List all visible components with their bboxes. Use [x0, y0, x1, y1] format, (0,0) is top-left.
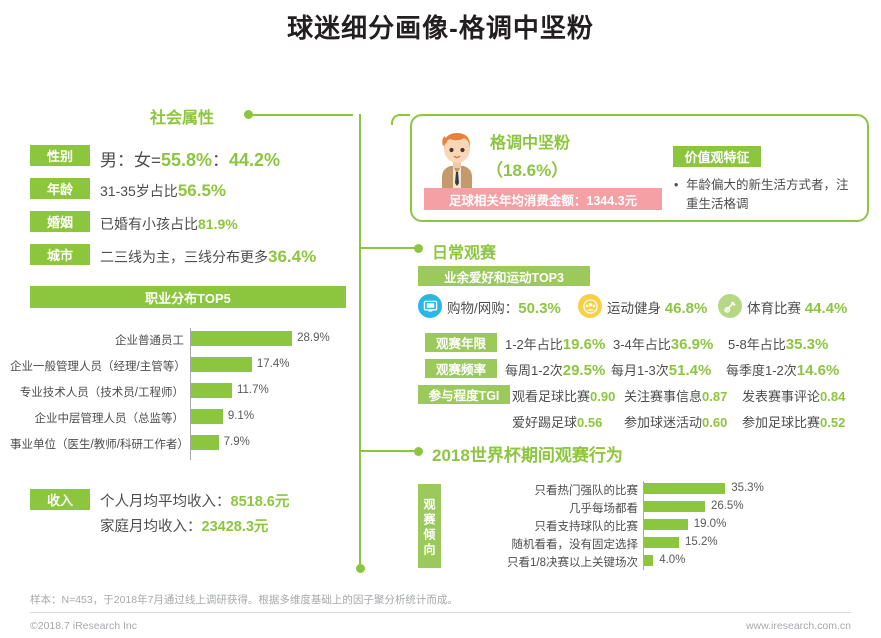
view-stat-value: 0.87 [702, 389, 727, 404]
footer-divider [30, 612, 851, 613]
occupation-bar-value: 17.4% [257, 358, 290, 370]
stat-gender-pre: 男：女= [100, 151, 161, 170]
view-stat-label: 每季度1-2次 [726, 363, 797, 378]
people-icon [578, 294, 602, 318]
view-stat-label: 5-8年占比 [728, 337, 786, 352]
occupation-bar [191, 357, 252, 372]
view-stat-label: 关注赛事信息 [624, 389, 702, 404]
view-stat-label: 参加足球比赛 [742, 415, 820, 430]
income-family-label: 家庭月均收入： [100, 519, 202, 535]
hobby-label: 运动健身 [607, 301, 665, 316]
chip-view-years: 观赛年限 [425, 333, 497, 352]
chip-view-freq: 观赛频率 [425, 359, 497, 378]
persona-value-bullet: •年龄偏大的新生活方式者，注重生活格调 [686, 176, 856, 215]
worldcup-bar [644, 537, 679, 548]
income-personal-value: 8518.6元 [231, 494, 290, 510]
chip-age: 年龄 [30, 178, 90, 199]
hobby-label: 体育比赛 [747, 301, 805, 316]
chip-city: 城市 [30, 244, 90, 265]
occupation-bar [191, 409, 223, 424]
worldcup-bar [644, 519, 688, 530]
hobby-text: 运动健身 46.8% [607, 297, 707, 317]
occupation-bar-value: 28.9% [297, 332, 330, 344]
worldcup-bar-value: 15.2% [685, 536, 718, 548]
chip-view-tendency: 观赛倾向 [418, 484, 441, 568]
view-stat-value: 14.6% [797, 362, 840, 379]
view-stat-label: 3-4年占比 [613, 337, 671, 352]
connector-branch-daily [361, 247, 417, 249]
avatar [434, 128, 480, 194]
section-head-daily: 日常观赛 [432, 239, 496, 263]
chip-engagement-tgi: 参与程度TGI [418, 385, 510, 404]
monitor-icon [418, 294, 442, 318]
occupation-bar-label: 专业技术人员（技术员/工程师） [10, 384, 184, 400]
chip-value-feature: 价值观特征 [673, 146, 761, 167]
view-stat-label: 参加球迷活动 [624, 415, 702, 430]
view-stat-cell: 参加球迷活动0.60 [624, 412, 727, 431]
worldcup-bar-label: 只看热门强队的比赛 [470, 482, 638, 498]
occupation-bar [191, 435, 219, 450]
stat-gender: 男：女=55.8%：44.2% [100, 146, 280, 171]
stat-city: 二三线为主，三线分布更多36.4% [100, 247, 316, 267]
view-stat-value: 29.5% [563, 362, 606, 379]
connector-dot-daily [414, 244, 423, 253]
income-family: 家庭月均收入：23428.3元 [100, 515, 268, 536]
connector-trunk [359, 114, 361, 566]
view-stat-label: 观看足球比赛 [512, 389, 590, 404]
worldcup-bar-label: 只看支持球队的比赛 [470, 518, 638, 534]
view-stat-cell: 每周1-2次29.5% [505, 360, 605, 379]
view-stat-value: 36.9% [671, 336, 714, 353]
stat-city-pre: 二三线为主，三线分布更多 [100, 249, 268, 265]
persona-spend-badge: 足球相关年均消费金额：1344.3元 [424, 188, 662, 210]
view-stat-value: 51.4% [669, 362, 712, 379]
worldcup-bar [644, 555, 653, 566]
view-stat-cell: 1-2年占比19.6% [505, 334, 605, 353]
sports-icon [718, 294, 742, 318]
section-head-worldcup: 2018世界杯期间观赛行为 [432, 441, 623, 466]
connector-line-card [400, 114, 410, 116]
income-family-value: 23428.3元 [202, 519, 269, 535]
hobby-value: 46.8% [665, 300, 708, 317]
chip-hobby-top3: 业余爱好和运动TOP3 [418, 266, 590, 286]
worldcup-bar-value: 19.0% [694, 518, 727, 530]
persona-percent: （18.6%） [486, 156, 568, 181]
view-stat-value: 0.84 [820, 389, 845, 404]
chip-income: 收入 [30, 489, 90, 510]
stat-age-v1: 56.5% [178, 181, 226, 200]
income-personal-label: 个人月均平均收入： [100, 494, 231, 510]
bullet-dot-icon: • [674, 176, 678, 195]
occupation-bar-label: 企业普通员工 [10, 332, 184, 348]
occupation-bar-value: 7.9% [224, 436, 250, 448]
occupation-bar-label: 企业一般管理人员（经理/主管等） [10, 358, 184, 374]
hobby-value: 50.3% [518, 300, 561, 317]
chip-gender: 性别 [30, 145, 90, 166]
view-stat-cell: 每月1-3次51.4% [611, 360, 711, 379]
view-stat-value: 0.52 [820, 415, 845, 430]
hobby-value: 44.4% [805, 300, 848, 317]
view-stat-cell: 每季度1-2次14.6% [726, 360, 839, 379]
view-stat-cell: 发表赛事评论0.84 [742, 386, 845, 405]
view-stat-label: 每周1-2次 [505, 363, 563, 378]
chart-title-occupation: 职业分布TOP5 [30, 286, 346, 308]
worldcup-bar-value: 35.3% [731, 482, 764, 494]
connector-line-top [252, 114, 353, 116]
view-stat-cell: 5-8年占比35.3% [728, 334, 828, 353]
view-stat-label: 爱好踢足球 [512, 415, 577, 430]
view-stat-label: 发表赛事评论 [742, 389, 820, 404]
view-stat-value: 19.6% [563, 336, 606, 353]
connector-branch-worldcup [361, 450, 417, 452]
page-title: 球迷细分画像-格调中坚粉 [0, 8, 881, 45]
stat-gender-v2: 44.2% [229, 150, 280, 170]
stat-age: 31-35岁占比56.5% [100, 181, 226, 201]
connector-dot-bottom [356, 564, 365, 573]
persona-value-bullet-text: 年龄偏大的新生活方式者，注重生活格调 [686, 178, 849, 211]
occupation-bar-label: 企业中层管理人员（总监等） [10, 410, 184, 426]
hobby-text: 购物/网购：50.3% [447, 297, 561, 317]
connector-dot-worldcup [414, 447, 423, 456]
view-stat-value: 0.60 [702, 415, 727, 430]
worldcup-bar-label: 只看1/8决赛以上关键场次 [470, 554, 638, 570]
occupation-bar-value: 9.1% [228, 410, 254, 422]
hobby-text: 体育比赛 44.4% [747, 297, 847, 317]
view-stat-label: 1-2年占比 [505, 337, 563, 352]
worldcup-bar [644, 483, 725, 494]
view-stat-value: 0.90 [590, 389, 615, 404]
view-stat-value: 35.3% [786, 336, 829, 353]
worldcup-bar [644, 501, 705, 512]
view-stat-cell: 爱好踢足球0.56 [512, 412, 602, 431]
stat-gender-v1: 55.8% [161, 150, 212, 170]
view-stat-cell: 关注赛事信息0.87 [624, 386, 727, 405]
footnote: 样本：N=453，于2018年7月通过线上调研获得。根据多维度基础上的因子聚分析… [30, 592, 458, 607]
chip-marriage: 婚姻 [30, 211, 90, 232]
hobby-label: 购物/网购： [447, 301, 518, 316]
occupation-bar-value: 11.7% [237, 384, 269, 396]
occupation-bar [191, 383, 232, 398]
persona-name: 格调中坚粉 [490, 134, 570, 154]
section-head-social: 社会属性 [150, 104, 214, 128]
footer-copyright: ©2018.7 iResearch Inc [30, 620, 137, 632]
stat-marriage-v1: 81.9% [198, 216, 238, 232]
stat-age-pre: 31-35岁占比 [100, 183, 178, 199]
view-stat-value: 0.56 [577, 415, 602, 430]
worldcup-bar-label: 几乎每场都看 [470, 500, 638, 516]
stat-marriage: 已婚有小孩占比81.9% [100, 214, 238, 234]
view-stat-cell: 参加足球比赛0.52 [742, 412, 845, 431]
worldcup-bar-value: 26.5% [711, 500, 744, 512]
worldcup-bar-label: 随机看看，没有固定选择 [470, 536, 638, 552]
footer-url[interactable]: www.iresearch.com.cn [746, 620, 851, 632]
view-stat-label: 每月1-3次 [611, 363, 669, 378]
worldcup-bar-value: 4.0% [659, 554, 685, 566]
stat-gender-mid: ： [212, 151, 229, 170]
income-personal: 个人月均平均收入：8518.6元 [100, 490, 289, 511]
view-stat-cell: 3-4年占比36.9% [613, 334, 713, 353]
occupation-bar-label: 事业单位（医生/教师/科研工作者） [10, 436, 184, 452]
stat-marriage-pre: 已婚有小孩占比 [100, 216, 198, 232]
stat-city-v1: 36.4% [268, 247, 316, 266]
occupation-bar [191, 331, 292, 346]
view-stat-cell: 观看足球比赛0.90 [512, 386, 615, 405]
